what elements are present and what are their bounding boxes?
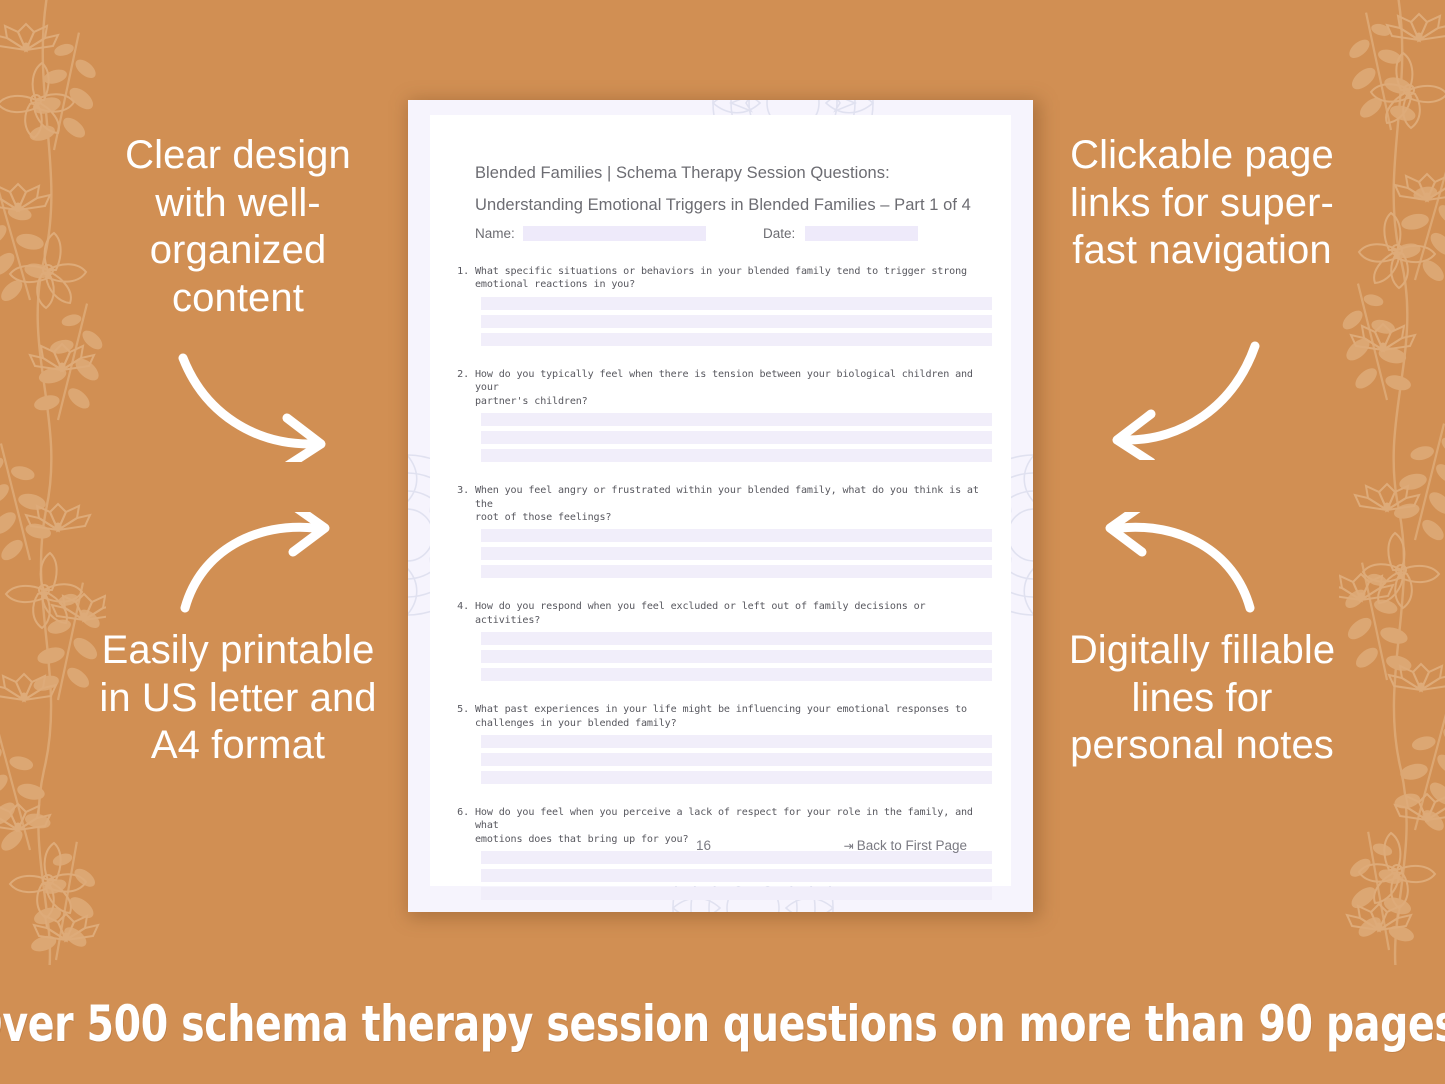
answer-line[interactable] — [481, 529, 992, 542]
back-arrow-icon: ⇥ — [844, 839, 854, 853]
bottom-banner-text: Over 500 schema therapy session question… — [0, 995, 1445, 1053]
question-block: 5.What past experiences in your life mig… — [456, 703, 992, 784]
answer-line[interactable] — [481, 565, 992, 578]
floral-vine-icon — [1339, 0, 1445, 965]
question-row: 1.What specific situations or behaviors … — [456, 265, 992, 292]
question-number: 2. — [456, 368, 475, 381]
page-footer: 16 ⇥Back to First Page — [475, 838, 967, 858]
questions-list: 1.What specific situations or behaviors … — [456, 265, 992, 905]
answer-lines — [481, 632, 992, 681]
question-text: How do you typically feel when there is … — [475, 368, 992, 408]
question-number: 1. — [456, 265, 475, 278]
name-label: Name: — [475, 226, 515, 241]
curved-arrow-left-icon — [1090, 512, 1260, 622]
answer-line[interactable] — [481, 869, 992, 882]
answer-lines — [481, 851, 992, 900]
question-row: 4.How do you respond when you feel exclu… — [456, 600, 992, 627]
worksheet-page: Blended Families | Schema Therapy Sessio… — [430, 115, 1011, 886]
answer-line[interactable] — [481, 333, 992, 346]
answer-lines — [481, 413, 992, 462]
curved-arrow-left-icon — [1095, 340, 1265, 465]
question-text: When you feel angry or frustrated within… — [475, 484, 992, 524]
answer-line[interactable] — [481, 431, 992, 444]
question-number: 4. — [456, 600, 475, 613]
question-row: 5.What past experiences in your life mig… — [456, 703, 992, 730]
question-number: 3. — [456, 484, 475, 497]
answer-line[interactable] — [481, 735, 992, 748]
date-label: Date: — [763, 226, 795, 241]
question-row: 2.How do you typically feel when there i… — [456, 368, 992, 408]
answer-line[interactable] — [481, 413, 992, 426]
question-row: 3.When you feel angry or frustrated with… — [456, 484, 992, 524]
answer-line[interactable] — [481, 449, 992, 462]
question-text: What past experiences in your life might… — [475, 703, 992, 730]
page-title-line2: Understanding Emotional Triggers in Blen… — [475, 189, 975, 221]
name-date-row: Name: Date: — [475, 225, 975, 243]
curved-arrow-right-icon — [175, 352, 345, 467]
curved-arrow-right-icon — [175, 512, 345, 622]
answer-line[interactable] — [481, 650, 992, 663]
answer-line[interactable] — [481, 771, 992, 784]
question-block: 2.How do you typically feel when there i… — [456, 368, 992, 462]
answer-line[interactable] — [481, 632, 992, 645]
answer-line[interactable] — [481, 297, 992, 310]
question-text: What specific situations or behaviors in… — [475, 265, 992, 292]
question-number: 6. — [456, 806, 475, 819]
back-to-first-page-label: Back to First Page — [857, 838, 967, 853]
answer-line[interactable] — [481, 668, 992, 681]
date-input[interactable] — [805, 226, 918, 241]
answer-line[interactable] — [481, 753, 992, 766]
question-text: How do you respond when you feel exclude… — [475, 600, 992, 627]
answer-line[interactable] — [481, 315, 992, 328]
back-to-first-page-link[interactable]: ⇥Back to First Page — [844, 838, 967, 853]
answer-lines — [481, 297, 992, 346]
promo-text-top-right: Clickable page links for super-fast navi… — [1052, 132, 1352, 275]
promo-text-top-left: Clear design with well-organized content — [88, 132, 388, 322]
question-block: 1.What specific situations or behaviors … — [456, 265, 992, 346]
answer-line[interactable] — [481, 547, 992, 560]
bottom-banner: Over 500 schema therapy session question… — [0, 964, 1445, 1084]
page-number: 16 — [696, 838, 711, 853]
name-input[interactable] — [523, 226, 706, 241]
promo-text-bottom-left: Easily printable in US letter and A4 for… — [88, 627, 388, 770]
question-number: 5. — [456, 703, 475, 716]
promo-text-bottom-right: Digitally fillable lines for personal no… — [1052, 627, 1352, 770]
document-preview[interactable]: Blended Families | Schema Therapy Sessio… — [408, 100, 1033, 912]
question-block: 4.How do you respond when you feel exclu… — [456, 600, 992, 681]
question-block: 3.When you feel angry or frustrated with… — [456, 484, 992, 578]
answer-lines — [481, 735, 992, 784]
page-title: Blended Families | Schema Therapy Sessio… — [475, 157, 975, 221]
page-title-line1: Blended Families | Schema Therapy Sessio… — [475, 157, 975, 189]
answer-lines — [481, 529, 992, 578]
answer-line[interactable] — [481, 887, 992, 900]
